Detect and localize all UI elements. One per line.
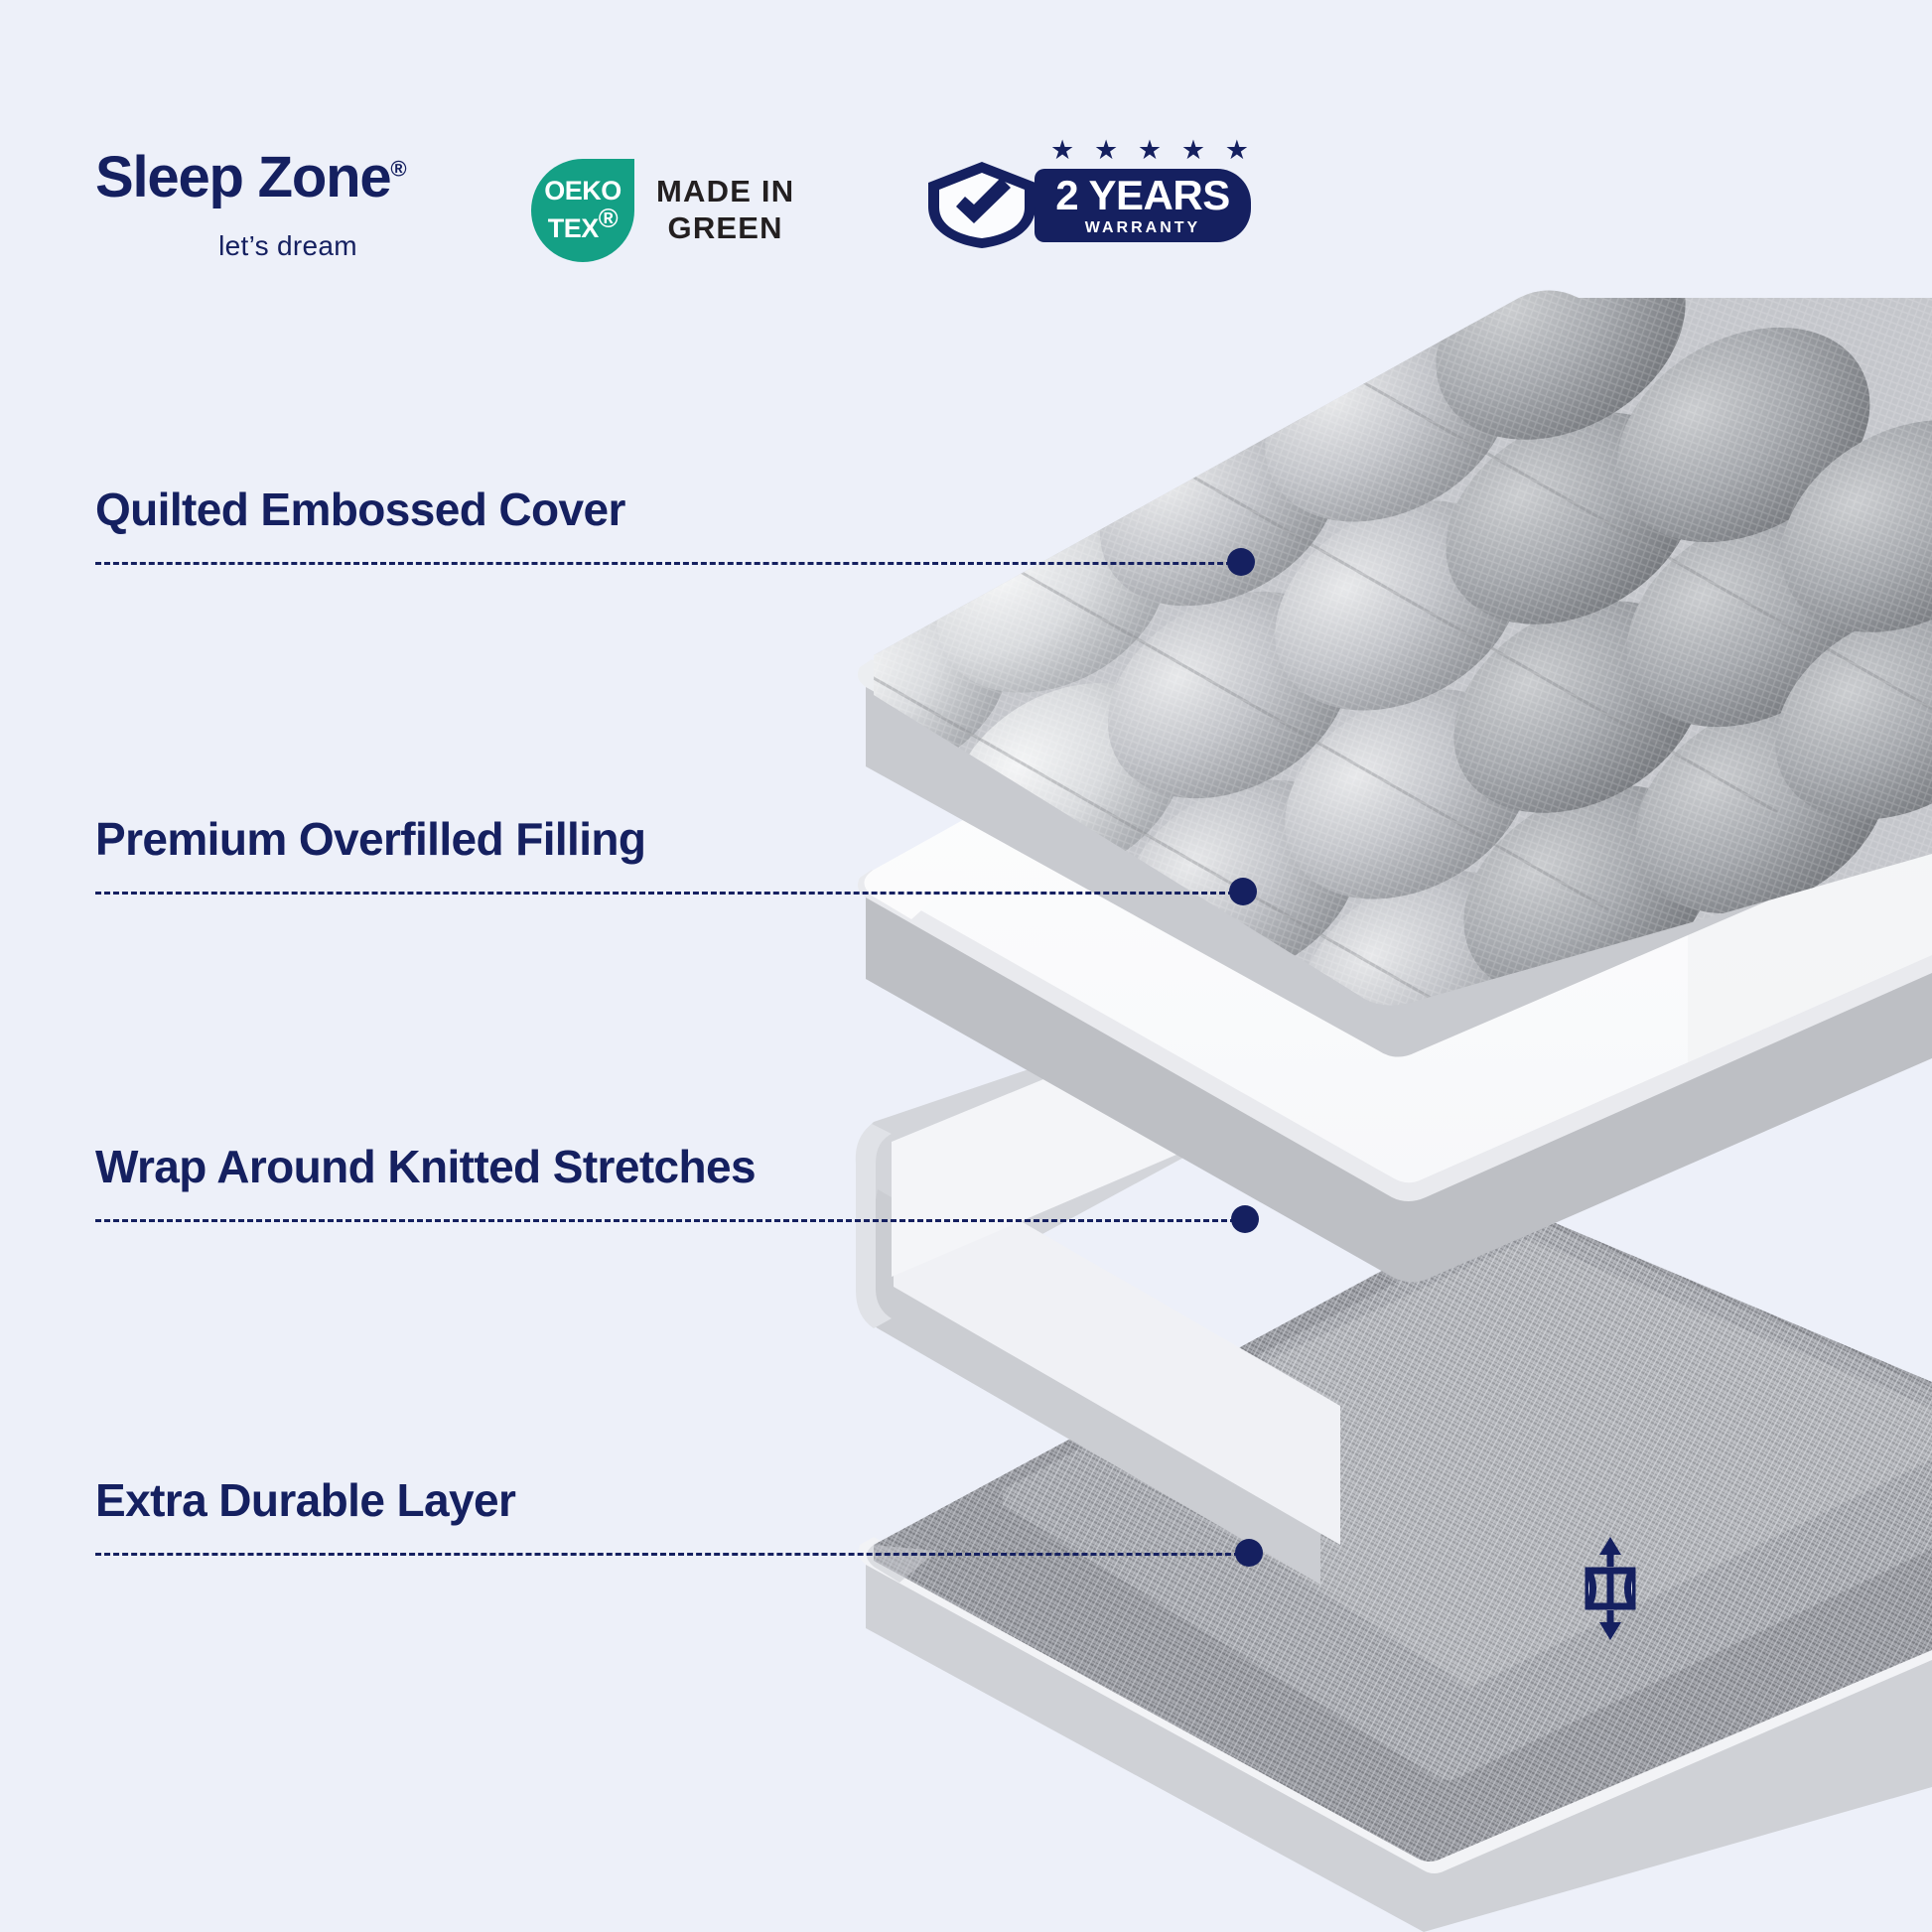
- feature-wrap-around-knitted-stretches: Wrap Around Knitted Stretches: [95, 1144, 756, 1189]
- star-icon: ★: [1225, 137, 1249, 164]
- warranty-sub: WARRANTY: [1085, 219, 1200, 237]
- oeko-line1: OEKO: [544, 178, 621, 206]
- registered-mark: ®: [390, 157, 405, 182]
- oeko-tex-droplet-icon: OEKO TEX®: [531, 159, 634, 262]
- leader-line: [95, 1553, 1249, 1556]
- infographic-canvas: Sleep Zone® let’s dream OEKO TEX® MADE I…: [0, 0, 1932, 1932]
- oeko-text-line1: MADE IN: [656, 174, 794, 210]
- warranty-badge: ★ ★ ★ ★ ★ 2 YEARS WARRANTY: [923, 137, 1251, 248]
- leader-line: [95, 562, 1241, 565]
- warranty-banner: 2 YEARS WARRANTY: [1035, 169, 1251, 242]
- product-exploded-illustration: [0, 0, 1932, 1932]
- feature-premium-overfilled-filling: Premium Overfilled Filling: [95, 816, 645, 862]
- leader-dot: [1235, 1539, 1263, 1567]
- leader-line: [95, 1219, 1245, 1222]
- feature-label: Quilted Embossed Cover: [95, 486, 625, 532]
- oeko-line2: TEX®: [548, 206, 618, 243]
- star-icon: ★: [1181, 137, 1205, 164]
- shield-check-icon: [923, 159, 1040, 250]
- oeko-tex-badge: OEKO TEX® MADE IN GREEN: [531, 159, 794, 262]
- feature-label: Extra Durable Layer: [95, 1477, 515, 1523]
- feature-label: Premium Overfilled Filling: [95, 816, 645, 862]
- star-icon: ★: [1138, 137, 1162, 164]
- brand-logo: Sleep Zone® let’s dream: [95, 149, 473, 262]
- leader-line: [95, 892, 1243, 895]
- star-icon: ★: [1094, 137, 1118, 164]
- brand-name: Sleep Zone®: [95, 149, 405, 207]
- leader-dot: [1227, 548, 1255, 576]
- oeko-text-line2: GREEN: [656, 210, 794, 247]
- feature-quilted-embossed-cover: Quilted Embossed Cover: [95, 486, 625, 532]
- warranty-stars: ★ ★ ★ ★ ★: [1050, 137, 1249, 164]
- brand-tagline: let’s dream: [139, 230, 437, 262]
- oeko-made-in-green-text: MADE IN GREEN: [656, 174, 794, 246]
- leader-dot: [1229, 878, 1257, 905]
- feature-label: Wrap Around Knitted Stretches: [95, 1144, 756, 1189]
- leader-dot: [1231, 1205, 1259, 1233]
- warranty-years: 2 YEARS: [1055, 175, 1229, 216]
- star-icon: ★: [1050, 137, 1074, 164]
- brand-name-text: Sleep Zone: [95, 145, 390, 209]
- feature-extra-durable-layer: Extra Durable Layer: [95, 1477, 515, 1523]
